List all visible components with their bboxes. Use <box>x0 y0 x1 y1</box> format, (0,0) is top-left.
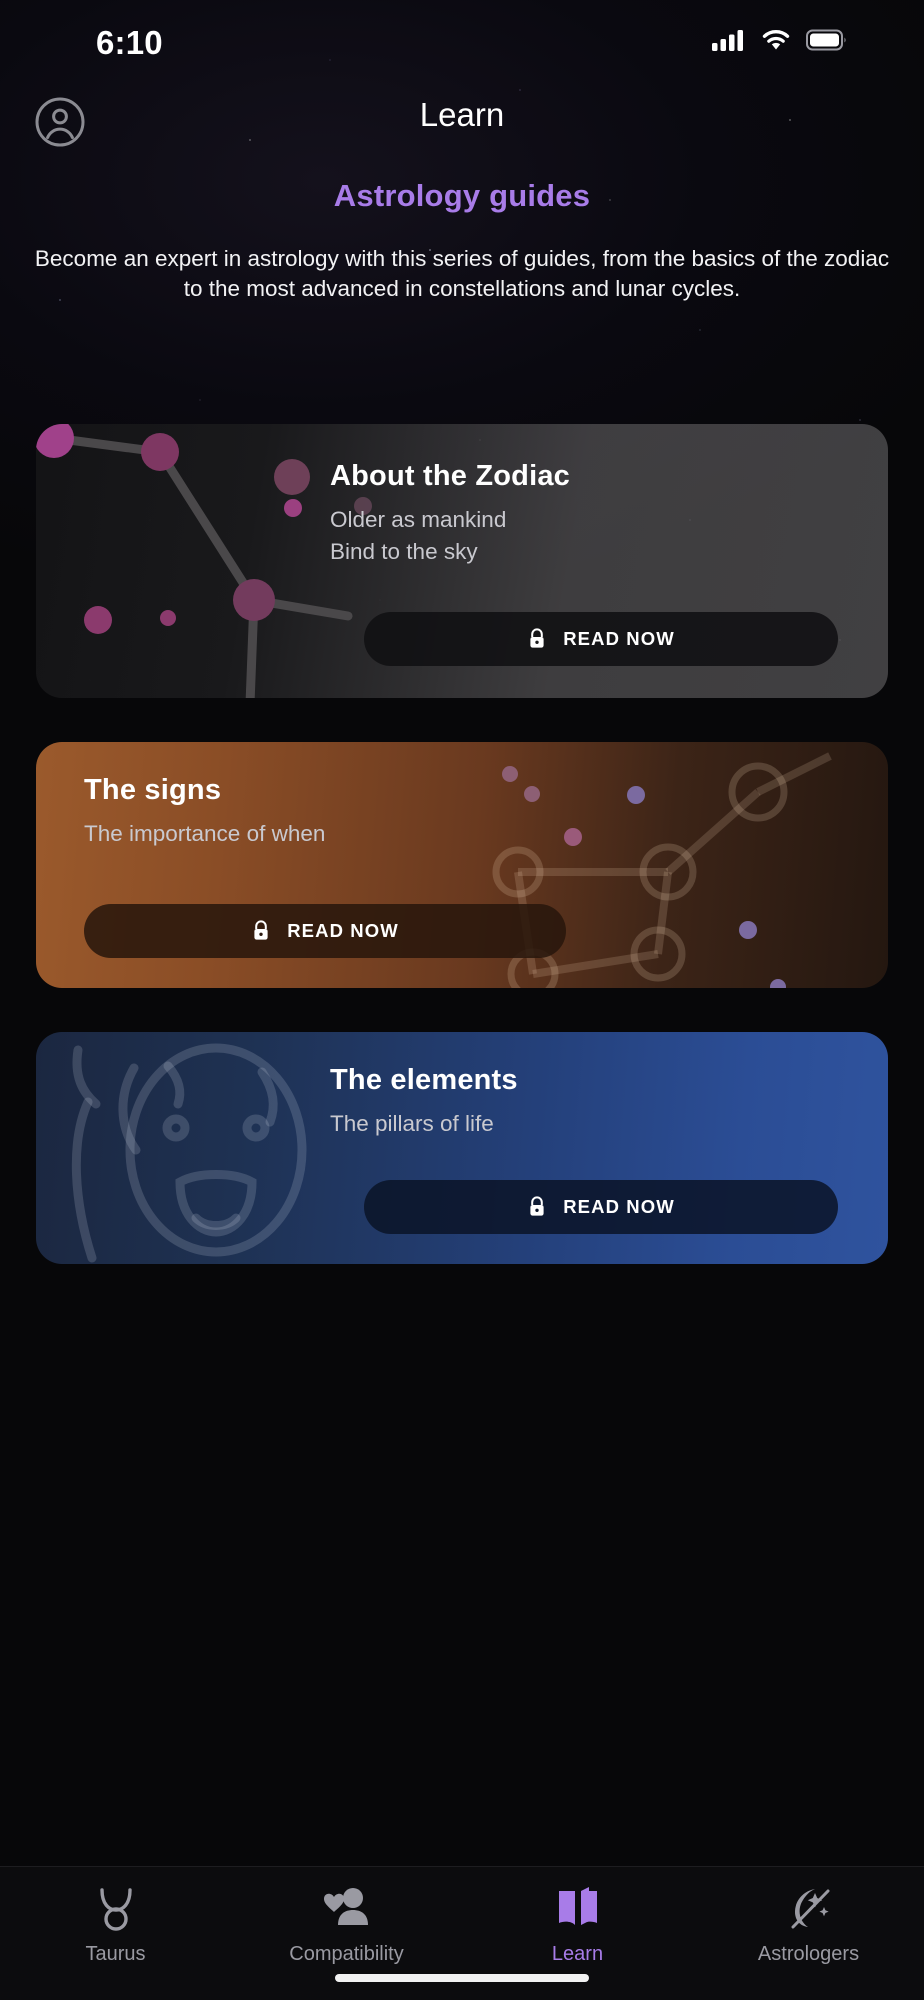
app-header: Learn <box>0 96 924 158</box>
guide-card-the-elements[interactable]: The elements The pillars of life READ NO… <box>36 1032 888 1264</box>
moon-stars-icon <box>785 1885 833 1931</box>
card-title: The signs <box>84 774 221 807</box>
read-now-label: READ NOW <box>563 628 675 650</box>
card-title: About the Zodiac <box>330 460 570 493</box>
guides-card-list: About the Zodiac Older as mankind Bind t… <box>0 424 924 1264</box>
tab-label: Taurus <box>85 1943 145 1966</box>
card-subtitle: The pillars of life <box>330 1108 494 1140</box>
read-now-button-the-signs[interactable]: READ NOW <box>84 904 566 958</box>
card-subtitle-line: The pillars of life <box>330 1108 494 1140</box>
bottom-tab-bar: Taurus Compatibility Learn <box>0 1866 924 2000</box>
intro-description: Become an expert in astrology with this … <box>0 244 924 304</box>
card-subtitle-line: The importance of when <box>84 818 325 850</box>
people-heart-icon <box>322 1885 372 1931</box>
card-content: The elements The pillars of life READ NO… <box>328 1032 864 1264</box>
card-content: About the Zodiac Older as mankind Bind t… <box>328 424 864 698</box>
tab-label: Learn <box>552 1943 603 1966</box>
intro-title: Astrology guides <box>0 178 924 214</box>
status-bar-clock: 6:10 <box>96 24 163 62</box>
lock-icon <box>527 1195 547 1219</box>
cellular-signal-icon <box>712 28 746 52</box>
card-title: The elements <box>330 1064 518 1097</box>
tab-label: Astrologers <box>758 1943 859 1966</box>
card-subtitle-line: Older as mankind <box>330 504 506 536</box>
lock-icon <box>527 627 547 651</box>
read-now-label: READ NOW <box>563 1196 675 1218</box>
read-now-button-about-the-zodiac[interactable]: READ NOW <box>364 612 838 666</box>
tab-label: Compatibility <box>289 1943 403 1966</box>
app-root: 6:10 <box>0 0 924 2000</box>
status-bar: 6:10 <box>0 0 924 86</box>
card-content: The signs The importance of when READ NO… <box>60 742 588 988</box>
tab-compatibility[interactable]: Compatibility <box>231 1885 462 1966</box>
intro-section: Astrology guides Become an expert in ast… <box>0 178 924 304</box>
home-indicator <box>335 1974 589 1982</box>
tab-taurus[interactable]: Taurus <box>0 1885 231 1966</box>
status-bar-icons <box>712 28 848 52</box>
battery-icon <box>806 28 848 52</box>
tab-astrologers[interactable]: Astrologers <box>693 1885 924 1966</box>
lock-icon <box>251 919 271 943</box>
page-title: Learn <box>0 96 924 134</box>
read-now-button-the-elements[interactable]: READ NOW <box>364 1180 838 1234</box>
taurus-zodiac-icon <box>94 1885 138 1931</box>
guide-card-the-signs[interactable]: The signs The importance of when READ NO… <box>36 742 888 988</box>
card-subtitle-line: Bind to the sky <box>330 536 506 568</box>
open-book-icon <box>555 1885 601 1931</box>
card-subtitle: The importance of when <box>84 818 325 850</box>
tab-learn[interactable]: Learn <box>462 1885 693 1966</box>
card-subtitle: Older as mankind Bind to the sky <box>330 504 506 568</box>
guide-card-about-the-zodiac[interactable]: About the Zodiac Older as mankind Bind t… <box>36 424 888 698</box>
read-now-label: READ NOW <box>287 920 399 942</box>
wifi-icon <box>760 28 792 52</box>
